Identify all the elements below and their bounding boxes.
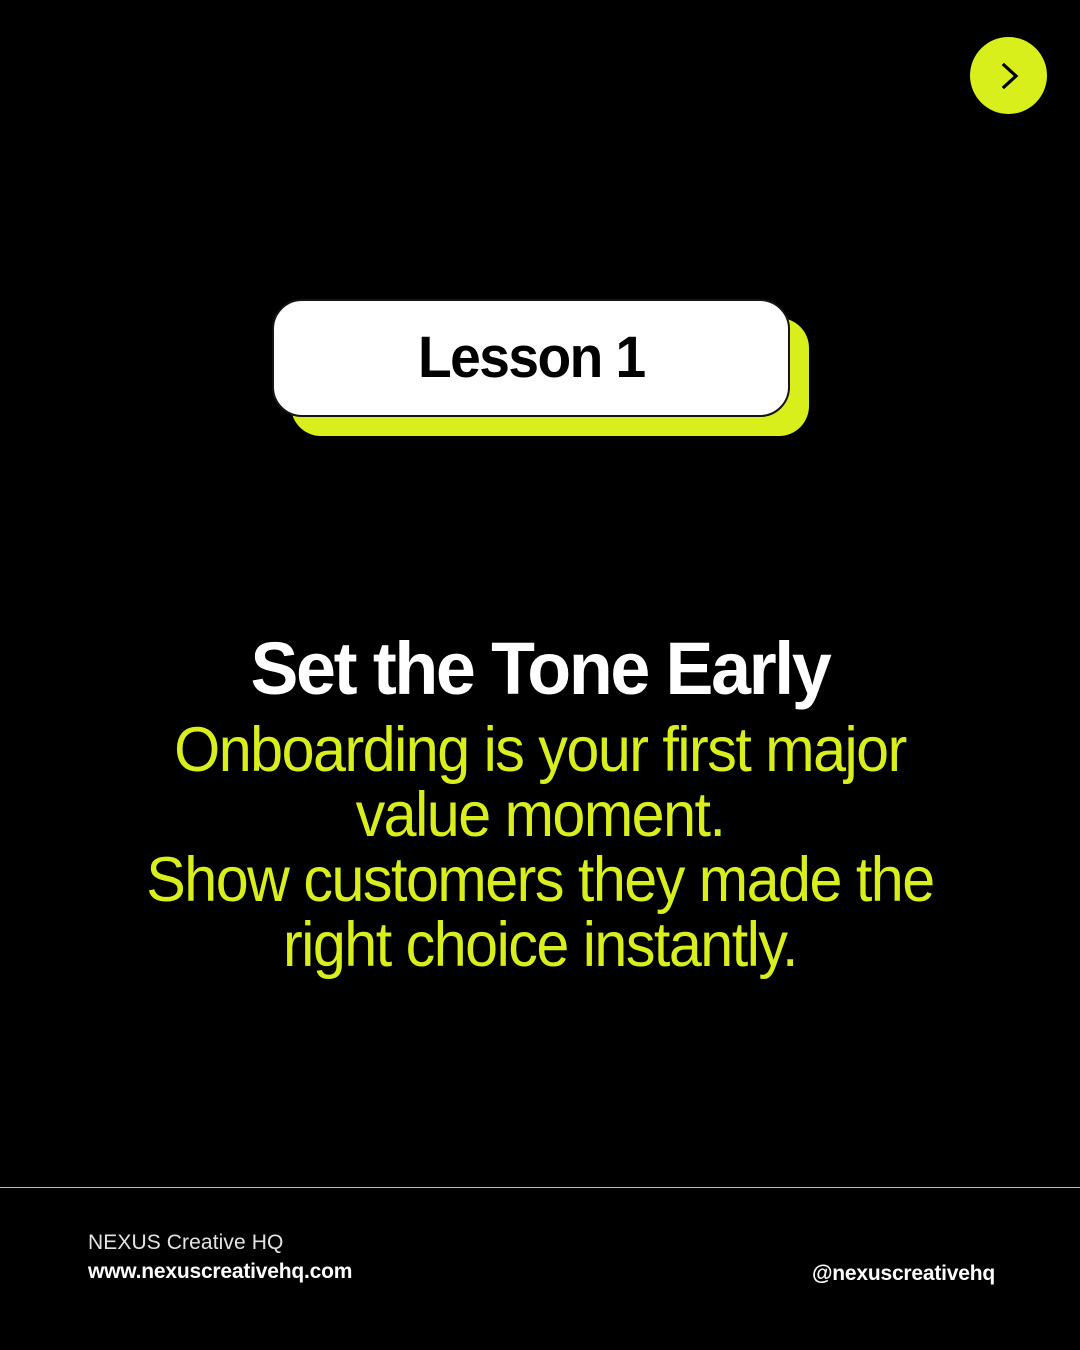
brand-website-link[interactable]: www.nexuscreativehq.com	[88, 1261, 352, 1282]
badge-label: Lesson 1	[418, 329, 645, 387]
footer: NEXUS Creative HQ www.nexuscreativehq.co…	[0, 1232, 1080, 1302]
body-line: right choice instantly.	[89, 913, 991, 978]
chevron-right-icon	[992, 59, 1026, 93]
footer-divider	[0, 1187, 1080, 1188]
brand-name: NEXUS Creative HQ	[88, 1232, 352, 1253]
body-line: Show customers they made the	[89, 848, 991, 913]
main-copy: Set the Tone Early Onboarding is your fi…	[0, 632, 1080, 978]
page-title: Set the Tone Early	[74, 632, 1005, 706]
brand-social-handle[interactable]: @nexuscreativehq	[812, 1263, 995, 1284]
body-copy: Onboarding is your first major value mom…	[89, 718, 991, 978]
slide-canvas: Lesson 1 Set the Tone Early Onboarding i…	[0, 0, 1080, 1350]
lesson-badge: Lesson 1	[272, 299, 790, 417]
body-line: value moment.	[89, 783, 991, 848]
footer-brand-block: NEXUS Creative HQ www.nexuscreativehq.co…	[88, 1232, 352, 1282]
body-line: Onboarding is your first major	[89, 718, 991, 783]
next-slide-button[interactable]	[970, 37, 1047, 114]
badge-card: Lesson 1	[272, 299, 790, 417]
